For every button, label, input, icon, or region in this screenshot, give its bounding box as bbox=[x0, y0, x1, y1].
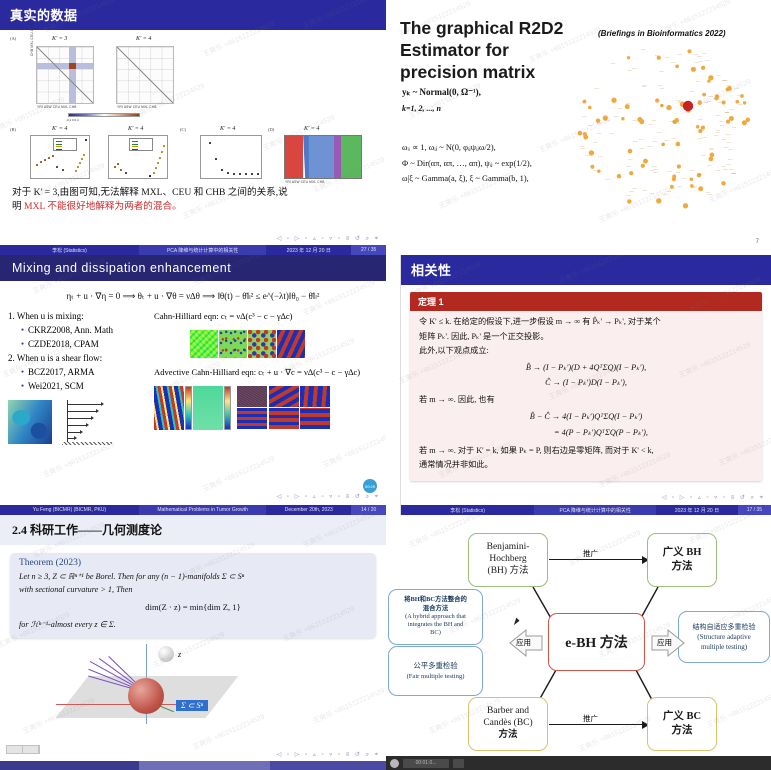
svg-text:~~~: ~~~ bbox=[709, 148, 714, 151]
footer-date: 2023 年 12 月 20 日 bbox=[656, 505, 737, 515]
svg-text:~~~: ~~~ bbox=[653, 166, 658, 169]
svg-text:~~~: ~~~ bbox=[606, 178, 611, 181]
apply-block-arrows bbox=[386, 515, 771, 770]
slide-surface: 2.4 科研工作——几何测度论 Theorem (2023) Let n ≥ 3… bbox=[0, 515, 386, 770]
scatter-c bbox=[200, 135, 262, 179]
svg-text:~~~: ~~~ bbox=[669, 120, 674, 123]
svg-text:~~~: ~~~ bbox=[614, 116, 619, 119]
svg-text:~~~: ~~~ bbox=[716, 169, 721, 172]
footer-page bbox=[270, 761, 386, 770]
svg-text:~~~: ~~~ bbox=[643, 189, 648, 192]
svg-text:~~~: ~~~ bbox=[650, 170, 655, 173]
equation-column: Cahn-Hilliard eqn: cₜ = ν∆(c³ − c − γ∆c)… bbox=[154, 310, 378, 444]
slide-title: 真实的数据 bbox=[0, 0, 386, 30]
footer-page: 14 / 20 bbox=[351, 505, 386, 515]
slide-note: 对于 K' = 3,由图可知,无法解释 MXL、CEU 和 CHB 之间的关系,… bbox=[8, 184, 378, 214]
note-line-1: 对于 K' = 3,由图可知,无法解释 MXL、CEU 和 CHB 之间的关系,… bbox=[12, 186, 374, 200]
note-line-2-prefix: 明 bbox=[12, 201, 24, 212]
theorem-line-1: Let n ≥ 3, Z ⊂ ℝⁿ⁺¹ be Borel. Then for a… bbox=[19, 571, 367, 584]
svg-text:~~~: ~~~ bbox=[690, 90, 695, 93]
svg-text:~~~: ~~~ bbox=[701, 155, 706, 158]
sim-frame bbox=[277, 330, 305, 358]
slide-footer bbox=[0, 761, 386, 770]
colorbar bbox=[68, 113, 140, 117]
slide-grid: 真实的数据 (A) K' = 3 K' = 4 bbox=[0, 0, 771, 770]
svg-text:~~~: ~~~ bbox=[632, 67, 637, 70]
theorem-eq-4: = 4(P − Pₖ')QᵀΣQ(P − Pₖ'), bbox=[419, 427, 753, 440]
chevron-left-icon[interactable] bbox=[453, 759, 464, 768]
svg-text:~~~: ~~~ bbox=[707, 164, 712, 167]
svg-text:~~~: ~~~ bbox=[609, 132, 614, 135]
ch-simulation-strip bbox=[190, 330, 378, 358]
list-item: CZDE2018, CPAM bbox=[21, 338, 148, 352]
svg-text:~~~: ~~~ bbox=[724, 112, 729, 115]
svg-text:~~~: ~~~ bbox=[735, 87, 740, 90]
footer-author: 李松 (Statistics) bbox=[0, 245, 139, 255]
theorem-tail-2: 通常情况并非如此。 bbox=[419, 459, 753, 472]
record-icon[interactable] bbox=[390, 759, 399, 768]
k-label-a2: K' = 4 bbox=[136, 36, 151, 42]
beamer-nav-dots[interactable]: ◁ ▫ ▷ ▫ ▵ ▫ ▿ ▫ ≡ ↺ ⌕ ⌖ bbox=[277, 493, 380, 501]
theorem-heading: 定理 1 bbox=[410, 292, 762, 311]
slide-panel-real-data[interactable]: 真实的数据 (A) K' = 3 K' = 4 bbox=[0, 0, 386, 255]
svg-text:~~~: ~~~ bbox=[666, 190, 671, 193]
k-label-b2: K' = 4 bbox=[128, 126, 143, 132]
svg-text:~~~: ~~~ bbox=[675, 123, 680, 126]
svg-text:~~~: ~~~ bbox=[594, 87, 599, 90]
theorem-mid: 若 m → ∞. 因此, 也有 bbox=[419, 394, 753, 407]
svg-text:~~~: ~~~ bbox=[694, 54, 699, 57]
svg-text:~~~: ~~~ bbox=[678, 53, 683, 56]
cahn-hilliard-eq: Cahn-Hilliard eqn: cₜ = ν∆(c³ − c − γ∆c) bbox=[154, 310, 378, 324]
svg-text:~~~: ~~~ bbox=[700, 129, 705, 132]
sim-frame bbox=[219, 330, 247, 358]
list-item-2: 2. When u is a shear flow: bbox=[8, 352, 148, 366]
sigma-label: Σ ⊂ Sⁿ bbox=[176, 700, 208, 711]
svg-text:~~~: ~~~ bbox=[597, 133, 602, 136]
theorem-box: 定理 1 令 K' ≤ k. 在给定的假设下,进一步假设 m → ∞ 有 P̂ₖ… bbox=[410, 292, 762, 481]
svg-text:~~~: ~~~ bbox=[732, 126, 737, 129]
theorem-line-2: 矩阵 Pₖ'. 因此, Pₖ' 是一个正交投影。 bbox=[419, 331, 753, 344]
svg-text:~~~: ~~~ bbox=[640, 147, 645, 150]
page-number: 7 bbox=[756, 239, 759, 245]
svg-text:~~~: ~~~ bbox=[598, 155, 603, 158]
advective-ch-eq: Advective Cahn-Hilliard eqn: cₜ + u · ∇c… bbox=[154, 366, 378, 380]
content-columns: 1. When u is mixing: CKRZ2008, Ann. Math… bbox=[0, 310, 386, 444]
slide-panel-correlation[interactable]: 相关性 定理 1 令 K' ≤ k. 在给定的假设下,进一步假设 m → ∞ 有… bbox=[386, 255, 771, 515]
timer-label[interactable]: 00:01:0... bbox=[403, 759, 449, 768]
svg-text:~~~: ~~~ bbox=[705, 60, 710, 63]
heatmap-x-ticks-2: YRI ASW CEU MXL CHB bbox=[117, 105, 157, 109]
slide-panel-mixing[interactable]: Mixing and dissipation enhancement ηₜ + … bbox=[0, 255, 386, 515]
svg-text:~~~: ~~~ bbox=[677, 186, 682, 189]
svg-text:~~~: ~~~ bbox=[729, 108, 734, 111]
svg-text:~~~: ~~~ bbox=[718, 101, 723, 104]
k-label-d: K' = 4 bbox=[304, 126, 319, 132]
svg-text:~~~: ~~~ bbox=[738, 103, 743, 106]
list-item: Wei2021, SCM bbox=[21, 380, 148, 394]
grid-cell bbox=[300, 386, 330, 407]
network-graph-figure: ~~~~~~~~~~~~~~~~~~~~~~~~~~~~~~~~~~~~~~~~… bbox=[564, 38, 764, 216]
field-colorbar bbox=[224, 386, 231, 430]
svg-text:~~~: ~~~ bbox=[707, 193, 712, 196]
svg-text:~~~: ~~~ bbox=[716, 115, 721, 118]
svg-text:~~~: ~~~ bbox=[657, 131, 662, 134]
grid-cell bbox=[237, 408, 267, 429]
svg-text:~~~: ~~~ bbox=[702, 136, 707, 139]
theorem-body: 令 K' ≤ k. 在给定的假设下,进一步假设 m → ∞ 有 P̂ₖ' → P… bbox=[410, 311, 762, 481]
slide-surface: Mixing and dissipation enhancement ηₜ + … bbox=[0, 255, 386, 515]
sublist-2: BCZ2017, ARMA Wei2021, SCM bbox=[21, 366, 148, 394]
svg-text:~~~: ~~~ bbox=[728, 148, 733, 151]
footer-page: 17 / 35 bbox=[738, 505, 771, 515]
svg-text:~~~: ~~~ bbox=[648, 123, 653, 126]
heatmap-k4 bbox=[116, 46, 174, 104]
theorem-line-1: 令 K' ≤ k. 在给定的假设下,进一步假设 m → ∞ 有 P̂ₖ' → P… bbox=[419, 316, 753, 329]
svg-text:~~~: ~~~ bbox=[585, 154, 590, 157]
panel-label-a: (A) bbox=[10, 36, 16, 41]
panel-label-d: (D) bbox=[268, 127, 274, 132]
grid-cell bbox=[237, 386, 267, 407]
svg-text:~~~: ~~~ bbox=[704, 101, 709, 104]
list-item: BCZ2017, ARMA bbox=[21, 366, 148, 380]
svg-text:~~~: ~~~ bbox=[676, 99, 681, 102]
theorem-heading: Theorem (2023) bbox=[19, 558, 367, 568]
svg-text:~~~: ~~~ bbox=[727, 142, 732, 145]
sim-frame bbox=[248, 330, 276, 358]
svg-text:~~~: ~~~ bbox=[628, 158, 633, 161]
svg-text:~~~: ~~~ bbox=[720, 124, 725, 127]
svg-text:~~~: ~~~ bbox=[632, 119, 637, 122]
svg-text:~~~: ~~~ bbox=[728, 158, 733, 161]
theorem-eq-2: Ĉ → (I − Pₖ')D(I − Pₖ'), bbox=[419, 377, 753, 390]
theorem-eq-1: B̂ → (I − Pₖ')(D + 4QᵀΣQ)(I − Pₖ'), bbox=[419, 362, 753, 375]
velocity-field-figures bbox=[154, 386, 231, 430]
panel-label-c: (C) bbox=[180, 127, 186, 132]
list-item-1: 1. When u is mixing: bbox=[8, 310, 148, 324]
sim-frame bbox=[190, 330, 218, 358]
pdf-nav-buttons[interactable] bbox=[6, 745, 40, 754]
svg-text:~~~: ~~~ bbox=[726, 133, 731, 136]
field-image bbox=[154, 386, 184, 430]
beamer-nav-dots[interactable]: ◁ ▫ ▷ ▫ ▵ ▫ ▿ ▫ ≡ ↺ ⌕ ⌖ bbox=[662, 494, 765, 502]
reference-list: 1. When u is mixing: CKRZ2008, Ann. Math… bbox=[8, 310, 148, 444]
z-label: z bbox=[178, 650, 181, 659]
slide-panel-geometric-measure[interactable]: 2.4 科研工作——几何测度论 Theorem (2023) Let n ≥ 3… bbox=[0, 515, 386, 770]
svg-text:~~~: ~~~ bbox=[671, 62, 676, 65]
svg-text:~~~: ~~~ bbox=[653, 140, 658, 143]
svg-text:~~~: ~~~ bbox=[648, 145, 653, 148]
z-point-sphere bbox=[158, 646, 174, 662]
slide-body: (A) K' = 3 K' = 4 CHB MXL CEU ASW bbox=[0, 30, 386, 214]
taskbar[interactable]: 00:01:0... bbox=[386, 756, 771, 770]
footer-talk: PCA 降维与统计计算中的相关性 bbox=[534, 505, 656, 515]
scatter-b1 bbox=[30, 135, 90, 179]
svg-text:~~~: ~~~ bbox=[676, 171, 681, 174]
phase-separation-grid bbox=[237, 386, 330, 430]
svg-text:~~~: ~~~ bbox=[627, 165, 632, 168]
field-colorbar bbox=[185, 386, 192, 430]
slide-panel-ebh-diagram[interactable]: Benjamini- Hochberg (BH) 方法 推广 广义 BH 方法 … bbox=[386, 515, 771, 770]
svg-text:~~~: ~~~ bbox=[702, 52, 707, 55]
svg-text:~~~: ~~~ bbox=[731, 172, 736, 175]
svg-text:~~~: ~~~ bbox=[639, 138, 644, 141]
shear-profile-figure bbox=[60, 400, 116, 444]
svg-text:~~~: ~~~ bbox=[698, 119, 703, 122]
stack-x-ticks: YRI ASW CEU MXL CHB bbox=[285, 180, 325, 184]
svg-text:~~~: ~~~ bbox=[649, 192, 654, 195]
footer-date: December 20th, 2023 bbox=[266, 505, 351, 515]
svg-text:~~~: ~~~ bbox=[665, 56, 670, 59]
beamer-nav-dots[interactable]: ◁ ▫ ▷ ▫ ▵ ▫ ▿ ▫ ≡ ↺ ⌕ ⌖ bbox=[277, 235, 380, 243]
footer-date: 2023 年 12 月 20 日 bbox=[266, 245, 351, 255]
slide-title: Mixing and dissipation enhancement bbox=[0, 255, 386, 281]
footer-author bbox=[0, 761, 139, 770]
svg-text:~~~: ~~~ bbox=[723, 79, 728, 82]
grid-cell bbox=[269, 408, 299, 429]
timer-badge: 00:29 bbox=[363, 479, 377, 493]
svg-text:~~~: ~~~ bbox=[698, 137, 703, 140]
svg-text:~~~: ~~~ bbox=[660, 87, 665, 90]
svg-text:~~~: ~~~ bbox=[641, 48, 646, 51]
theorem-body: Let n ≥ 3, Z ⊂ ℝⁿ⁺¹ be Borel. Then for a… bbox=[19, 571, 367, 631]
svg-text:~~~: ~~~ bbox=[630, 190, 635, 193]
footer-talk: Mathematical Problems in Tumor Growth bbox=[139, 505, 266, 515]
footer-page: 27 / 35 bbox=[351, 245, 386, 255]
footer-author: 李松 (Statistics) bbox=[401, 505, 534, 515]
svg-text:~~~: ~~~ bbox=[726, 164, 731, 167]
slide-footer: 李松 (Statistics) PCA 降维与统计计算中的相关性 2023 年 … bbox=[0, 245, 386, 255]
geometry-figure: z Σ ⊂ Sⁿ bbox=[0, 640, 386, 728]
svg-text:~~~: ~~~ bbox=[664, 139, 669, 142]
slide-panel-r2d2[interactable]: The graphical R2D2 Estimator for precisi… bbox=[386, 0, 771, 255]
slide-title: 2.4 科研工作——几何测度论 bbox=[0, 515, 386, 545]
sublist-1: CKRZ2008, Ann. Math CZDE2018, CPAM bbox=[21, 324, 148, 352]
svg-text:~~~: ~~~ bbox=[696, 80, 701, 83]
turbulence-image bbox=[8, 400, 52, 444]
grid-cell bbox=[269, 386, 299, 407]
k-label-a1: K' = 3 bbox=[52, 36, 67, 42]
svg-text:~~~: ~~~ bbox=[663, 193, 668, 196]
slide-title: 相关性 bbox=[401, 255, 771, 285]
heatmap-y-ticks: CHB MXL CEU ASW YRI bbox=[30, 16, 34, 56]
svg-text:~~~: ~~~ bbox=[719, 121, 724, 124]
theorem-eq-3: B̂ − Ĉ → 4(I − Pₖ')QᵀΣQ(I − Pₖ') bbox=[419, 411, 753, 424]
beamer-nav-dots[interactable]: ◁ ▫ ▷ ▫ ▵ ▫ ▿ ▫ ≡ ↺ ⌕ ⌖ bbox=[277, 751, 380, 759]
svg-text:~~~: ~~~ bbox=[714, 134, 719, 137]
scatter-b2 bbox=[108, 135, 168, 179]
svg-text:~~~: ~~~ bbox=[722, 138, 727, 141]
svg-text:~~~: ~~~ bbox=[697, 99, 702, 102]
svg-text:~~~: ~~~ bbox=[626, 194, 631, 197]
theorem-line-3: 此外,以下观点成立: bbox=[419, 345, 753, 358]
svg-text:~~~: ~~~ bbox=[723, 168, 728, 171]
theorem-line-3: for ℋⁿ⁻¹-almost every z ∈ Σ. bbox=[19, 619, 367, 632]
footer-talk bbox=[139, 761, 270, 770]
theorem-tail-1: 若 m → ∞. 对于 K' = k, 如果 Pₖ = P, 则右边是零矩阵, … bbox=[419, 445, 753, 458]
note-line-2-highlight: MXL 不能很好地解释为两者的混合。 bbox=[24, 201, 182, 212]
slide-footer: Yu Feng (BICMR) (BICMR, PKU) Mathematica… bbox=[0, 505, 386, 515]
svg-text:~~~: ~~~ bbox=[716, 74, 721, 77]
grid-cell bbox=[300, 408, 330, 429]
slide-footer: 李松 (Statistics) PCA 降维与统计计算中的相关性 2023 年 … bbox=[401, 505, 771, 515]
heatmap-k3 bbox=[36, 46, 94, 104]
svg-text:~~~: ~~~ bbox=[694, 61, 699, 64]
theorem-box: Theorem (2023) Let n ≥ 3, Z ⊂ ℝⁿ⁺¹ be Bo… bbox=[10, 553, 376, 638]
svg-text:~~~: ~~~ bbox=[611, 63, 616, 66]
svg-text:~~~: ~~~ bbox=[588, 124, 593, 127]
svg-text:~~~: ~~~ bbox=[690, 169, 695, 172]
slide-surface: 相关性 定理 1 令 K' ≤ k. 在给定的假设下,进一步假设 m → ∞ 有… bbox=[400, 255, 771, 515]
svg-text:~~~: ~~~ bbox=[633, 141, 638, 144]
colorbar-ticks: -0.4 0 0.4 bbox=[66, 118, 79, 122]
r2d2-citation: (Briefings in Bioinformatics 2022) bbox=[598, 29, 726, 38]
svg-text:~~~: ~~~ bbox=[667, 170, 672, 173]
list-item: CKRZ2008, Ann. Math bbox=[21, 324, 148, 338]
svg-text:~~~: ~~~ bbox=[693, 185, 698, 188]
footer-talk: PCA 降维与统计计算中的相关性 bbox=[139, 245, 266, 255]
network-graph-svg: ~~~~~~~~~~~~~~~~~~~~~~~~~~~~~~~~~~~~~~~~… bbox=[564, 38, 764, 216]
main-equation: ηₜ + u · ∇η = 0 ⟹ θₜ + u · ∇θ = ν∆θ ⟹ ‖θ… bbox=[0, 281, 386, 310]
svg-text:~~~: ~~~ bbox=[582, 116, 587, 119]
field-image bbox=[193, 386, 223, 430]
footer-author: Yu Feng (BICMR) (BICMR, PKU) bbox=[0, 505, 139, 515]
svg-text:~~~: ~~~ bbox=[659, 70, 664, 73]
k-label-b1: K' = 4 bbox=[52, 126, 67, 132]
svg-text:~~~: ~~~ bbox=[652, 119, 657, 122]
theorem-equation: dim(Z · z) = min{dim Z, 1} bbox=[19, 601, 367, 614]
figure-panel-a: (A) K' = 3 K' = 4 CHB MXL CEU ASW bbox=[8, 34, 378, 184]
svg-text:~~~: ~~~ bbox=[716, 129, 721, 132]
panel-label-b: (B) bbox=[10, 127, 16, 132]
theorem-line-2: with sectional curvature > 1, Then bbox=[19, 584, 367, 597]
r2d2-title: The graphical R2D2 Estimator for precisi… bbox=[400, 18, 575, 84]
svg-text:~~~: ~~~ bbox=[699, 60, 704, 63]
svg-text:~~~: ~~~ bbox=[605, 119, 610, 122]
svg-text:~~~: ~~~ bbox=[581, 147, 586, 150]
slide-surface: 真实的数据 (A) K' = 3 K' = 4 bbox=[0, 0, 386, 255]
heatmap-x-ticks-1: YRI ASW CEU MXL CHB bbox=[37, 105, 77, 109]
svg-text:~~~: ~~~ bbox=[672, 137, 677, 140]
svg-text:~~~: ~~~ bbox=[642, 84, 647, 87]
svg-text:~~~: ~~~ bbox=[681, 177, 686, 180]
svg-text:~~~: ~~~ bbox=[698, 173, 703, 176]
svg-text:~~~: ~~~ bbox=[593, 141, 598, 144]
svg-text:~~~: ~~~ bbox=[708, 96, 713, 99]
admixture-stack bbox=[284, 135, 362, 179]
edge-label-apply-left: 应用 bbox=[514, 637, 533, 648]
svg-text:~~~: ~~~ bbox=[618, 108, 623, 111]
k-label-c: K' = 4 bbox=[220, 126, 235, 132]
edge-label-apply-right: 应用 bbox=[655, 637, 674, 648]
